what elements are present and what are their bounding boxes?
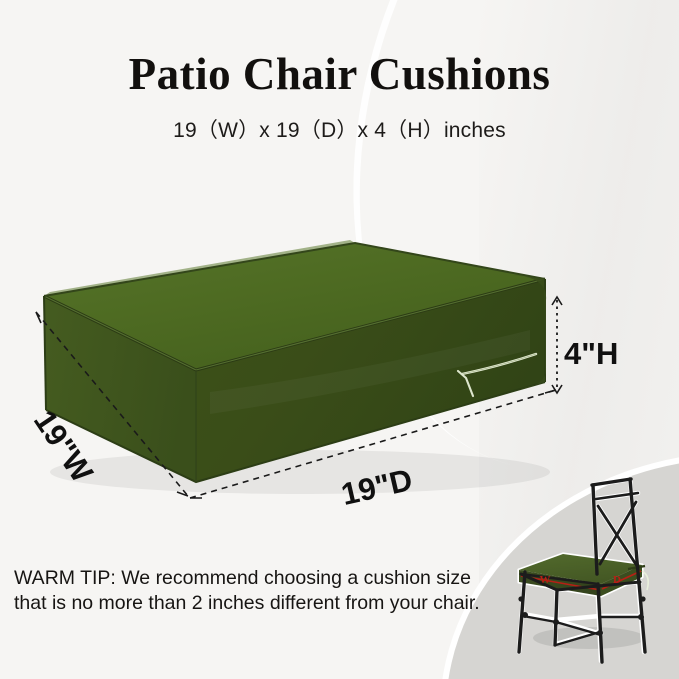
- chair-marker-w: W: [540, 574, 551, 586]
- dimension-label-height: 4"H: [564, 336, 618, 372]
- chair-marker-d: D: [613, 574, 621, 586]
- warm-tip-line-1: WARM TIP: We recommend choosing a cushio…: [14, 566, 492, 591]
- chair-svg: W D: [497, 466, 679, 666]
- product-infographic: Patio Chair Cushions 19（W）x 19（D）x 4（H）i…: [0, 0, 679, 679]
- cushion-shadow: [50, 450, 550, 494]
- chair-illustration: W D: [497, 466, 679, 666]
- warm-tip-line-2: that is no more than 2 inches different …: [14, 591, 492, 616]
- warm-tip: WARM TIP: We recommend choosing a cushio…: [14, 566, 492, 616]
